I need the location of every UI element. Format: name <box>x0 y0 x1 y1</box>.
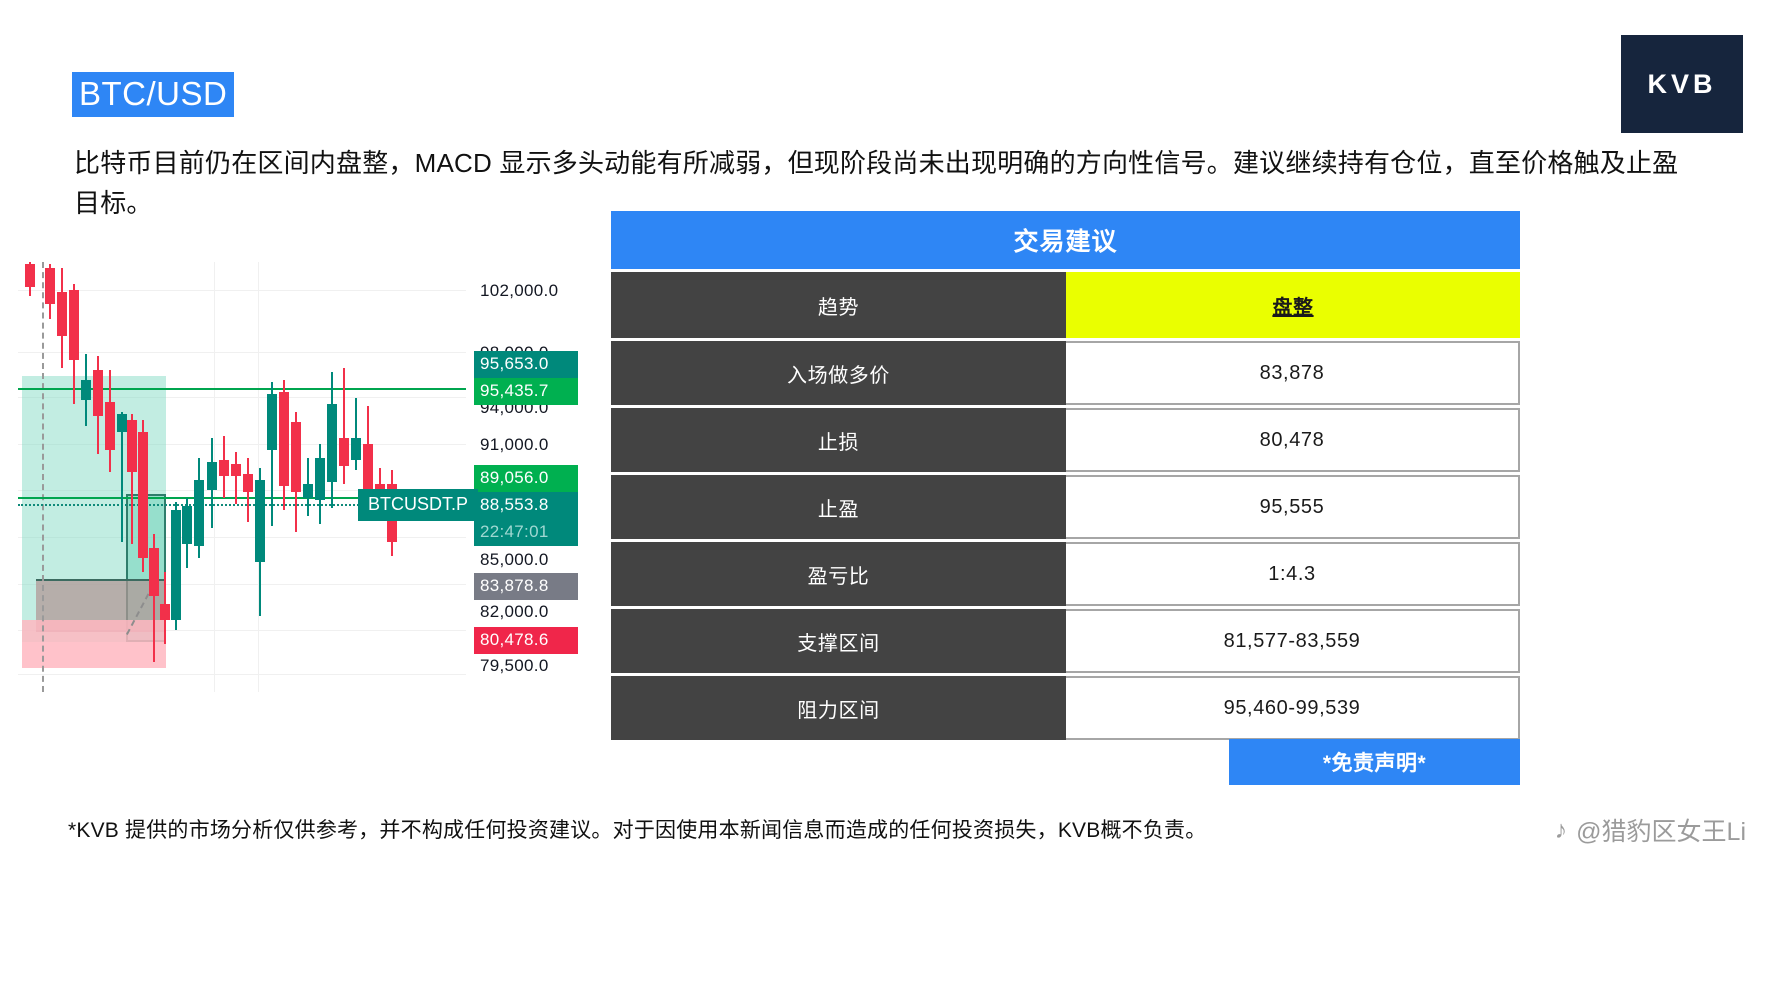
candle-body <box>231 464 241 476</box>
candle-body <box>45 268 55 304</box>
axis-tick-label: 82,000.0 <box>480 602 549 622</box>
price-tag-take-profit-top: 95,653.0 <box>474 351 578 378</box>
row-label: 支撑区间 <box>611 609 1066 673</box>
row-label: 止损 <box>611 408 1066 472</box>
music-note-icon: ♪ <box>1555 816 1568 845</box>
row-value: 95,460-99,539 <box>1066 676 1520 740</box>
footer-disclaimer-text: *KVB 提供的市场分析仅供参考，并不构成任何投资建议。对于因使用本新闻信息而造… <box>68 816 1268 846</box>
candle-body <box>182 506 192 544</box>
table-title: 交易建议 <box>611 211 1520 269</box>
kvb-logo: KVB <box>1621 35 1743 133</box>
gridline <box>18 674 466 675</box>
time-marker-line <box>42 262 44 692</box>
candle-body <box>93 370 103 416</box>
axis-tick-label: 91,000.0 <box>480 435 549 455</box>
candle-body <box>279 392 289 486</box>
candle-body <box>255 480 265 562</box>
candle-body <box>105 402 115 450</box>
gridline <box>18 290 466 291</box>
axis-tick-label: 102,000.0 <box>480 281 558 301</box>
slide-root: KVB BTC/USD 比特币目前仍在区间内盘整，MACD 显示多头动能有所减弱… <box>0 0 1780 1002</box>
candle-body <box>339 438 349 466</box>
candle-body <box>81 380 91 400</box>
row-label: 入场做多价 <box>611 341 1066 405</box>
candle-body <box>327 404 337 482</box>
axis-tick-label: 85,000.0 <box>480 550 549 570</box>
candle-body <box>69 290 79 360</box>
price-tag-entry: 83,878.8 <box>474 573 578 600</box>
table-row: 支撑区间 81,577-83,559 <box>611 609 1520 673</box>
table-row: 趋势 盘整 <box>611 272 1520 338</box>
trade-recommendation-table: 交易建议 趋势 盘整 入场做多价 83,878 止损 80,478 止盈 95,… <box>611 211 1520 740</box>
candle-body <box>149 548 159 596</box>
candle-body <box>267 394 277 450</box>
disclaimer-button[interactable]: *免责声明* <box>1229 739 1520 785</box>
row-value: 83,878 <box>1066 341 1520 405</box>
price-tag-resistance: 95,435.7 <box>474 378 578 405</box>
candle-wick <box>235 452 237 504</box>
currency-pair-title: BTC/USD <box>72 72 234 117</box>
candle-body <box>243 474 253 492</box>
row-value: 1:4.3 <box>1066 542 1520 606</box>
candlestick-chart[interactable]: 102,000.0 98,000.0 94,000.0 91,000.0 85,… <box>18 262 593 692</box>
candle-body <box>160 604 170 620</box>
candle-wick <box>343 368 345 484</box>
row-value: 81,577-83,559 <box>1066 609 1520 673</box>
gridline <box>18 352 466 353</box>
row-value: 95,555 <box>1066 475 1520 539</box>
candle-body <box>25 264 35 287</box>
page-title: BTC/USD <box>72 72 234 117</box>
candle-body <box>194 480 204 546</box>
candle-body <box>303 484 313 498</box>
table-row: 盈亏比 1:4.3 <box>611 542 1520 606</box>
row-label: 阻力区间 <box>611 676 1066 740</box>
watermark: ♪ @猎豹区女王Li <box>1555 812 1746 848</box>
candle-body <box>171 510 181 620</box>
table-row: 入场做多价 83,878 <box>611 341 1520 405</box>
candle-body <box>207 462 217 490</box>
candle-body <box>351 438 361 460</box>
row-value: 80,478 <box>1066 408 1520 472</box>
price-tag-ask: 89,056.0 <box>474 465 578 492</box>
candle-body <box>315 458 325 500</box>
candle-body <box>127 420 137 472</box>
table-row: 止损 80,478 <box>611 408 1520 472</box>
kvb-logo-text: KVB <box>1647 69 1716 100</box>
table-row: 阻力区间 95,460-99,539 <box>611 676 1520 740</box>
row-value: 盘整 <box>1066 272 1520 338</box>
candle-body <box>57 292 67 336</box>
watermark-handle: @猎豹区女王Li <box>1576 812 1746 848</box>
row-label: 止盈 <box>611 475 1066 539</box>
price-tag-last-price: 88,553.8 <box>474 492 578 519</box>
price-tag-countdown: 22:47:01 <box>474 519 578 546</box>
axis-tick-label: 79,500.0 <box>480 656 549 676</box>
candle-body <box>117 414 127 432</box>
candle-body <box>219 460 229 476</box>
candle-body <box>291 422 301 492</box>
price-tag-stop-loss: 80,478.6 <box>474 627 578 654</box>
symbol-badge: BTCUSDT.P <box>358 489 478 521</box>
candle-body <box>138 432 148 558</box>
row-label: 趋势 <box>611 272 1066 338</box>
table-row: 止盈 95,555 <box>611 475 1520 539</box>
row-label: 盈亏比 <box>611 542 1066 606</box>
